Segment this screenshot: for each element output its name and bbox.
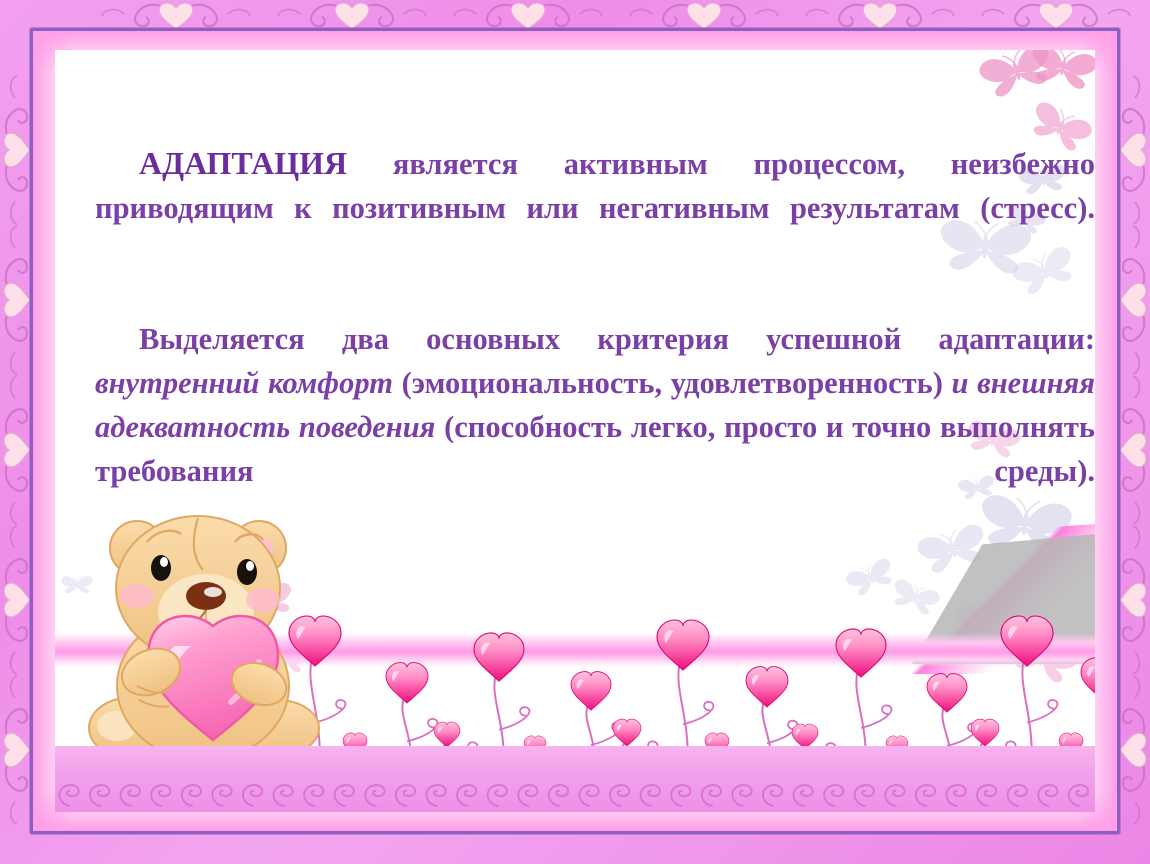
- ground-spiral: [365, 785, 384, 806]
- slide-canvas: АДАПТАЦИЯ является активным процессом, н…: [55, 50, 1095, 812]
- teddy-bear-mascot: [63, 496, 363, 776]
- ground-spiral: [90, 785, 109, 806]
- ground-spiral: [488, 785, 507, 806]
- ground-spiral: [641, 785, 660, 806]
- ground-spiral: [702, 785, 721, 806]
- ground-spiral: [457, 785, 476, 806]
- ground-spiral: [212, 785, 231, 806]
- ground-spiral: [396, 785, 415, 806]
- ground-spiral: [885, 785, 904, 806]
- ground-spiral: [824, 785, 843, 806]
- ground-spiral-pattern: [55, 746, 1095, 812]
- ground-spiral: [1038, 785, 1057, 806]
- ground-spiral: [794, 785, 813, 806]
- ground-spiral: [916, 785, 935, 806]
- ground-spiral: [1008, 785, 1027, 806]
- ground-spiral: [243, 785, 262, 806]
- ground-spiral: [732, 785, 751, 806]
- ground-spiral: [579, 785, 598, 806]
- ground-spiral: [946, 785, 965, 806]
- ground-band: [55, 746, 1095, 812]
- paragraph-1: АДАПТАЦИЯ является активным процессом, н…: [95, 140, 1095, 275]
- ground-spiral: [977, 785, 996, 806]
- ground-spiral: [182, 785, 201, 806]
- ground-spiral: [610, 785, 629, 806]
- ground-spiral: [855, 785, 874, 806]
- ground-spiral: [518, 785, 537, 806]
- slide: АДАПТАЦИЯ является активным процессом, н…: [0, 0, 1150, 864]
- ground-spiral: [763, 785, 782, 806]
- ground-spiral: [1069, 785, 1088, 806]
- ground-spiral: [274, 785, 293, 806]
- slide-body-text: АДАПТАЦИЯ является активным процессом, н…: [95, 140, 1095, 538]
- ground-spiral: [671, 785, 690, 806]
- criterion-one: внутренний комфорт: [95, 366, 393, 400]
- ground-spiral: [426, 785, 445, 806]
- ground-spiral: [335, 785, 354, 806]
- ground-spiral: [549, 785, 568, 806]
- lead-term: АДАПТАЦИЯ: [139, 145, 347, 181]
- ground-spiral: [121, 785, 140, 806]
- ground-spiral: [59, 785, 78, 806]
- ground-spiral: [151, 785, 170, 806]
- paragraph-2-part-a: Выделяется два основных критерия успешно…: [139, 322, 1095, 356]
- ground-spiral: [304, 785, 323, 806]
- paragraph-2-part-b: (эмоциональность, удовлетворенность): [393, 366, 952, 400]
